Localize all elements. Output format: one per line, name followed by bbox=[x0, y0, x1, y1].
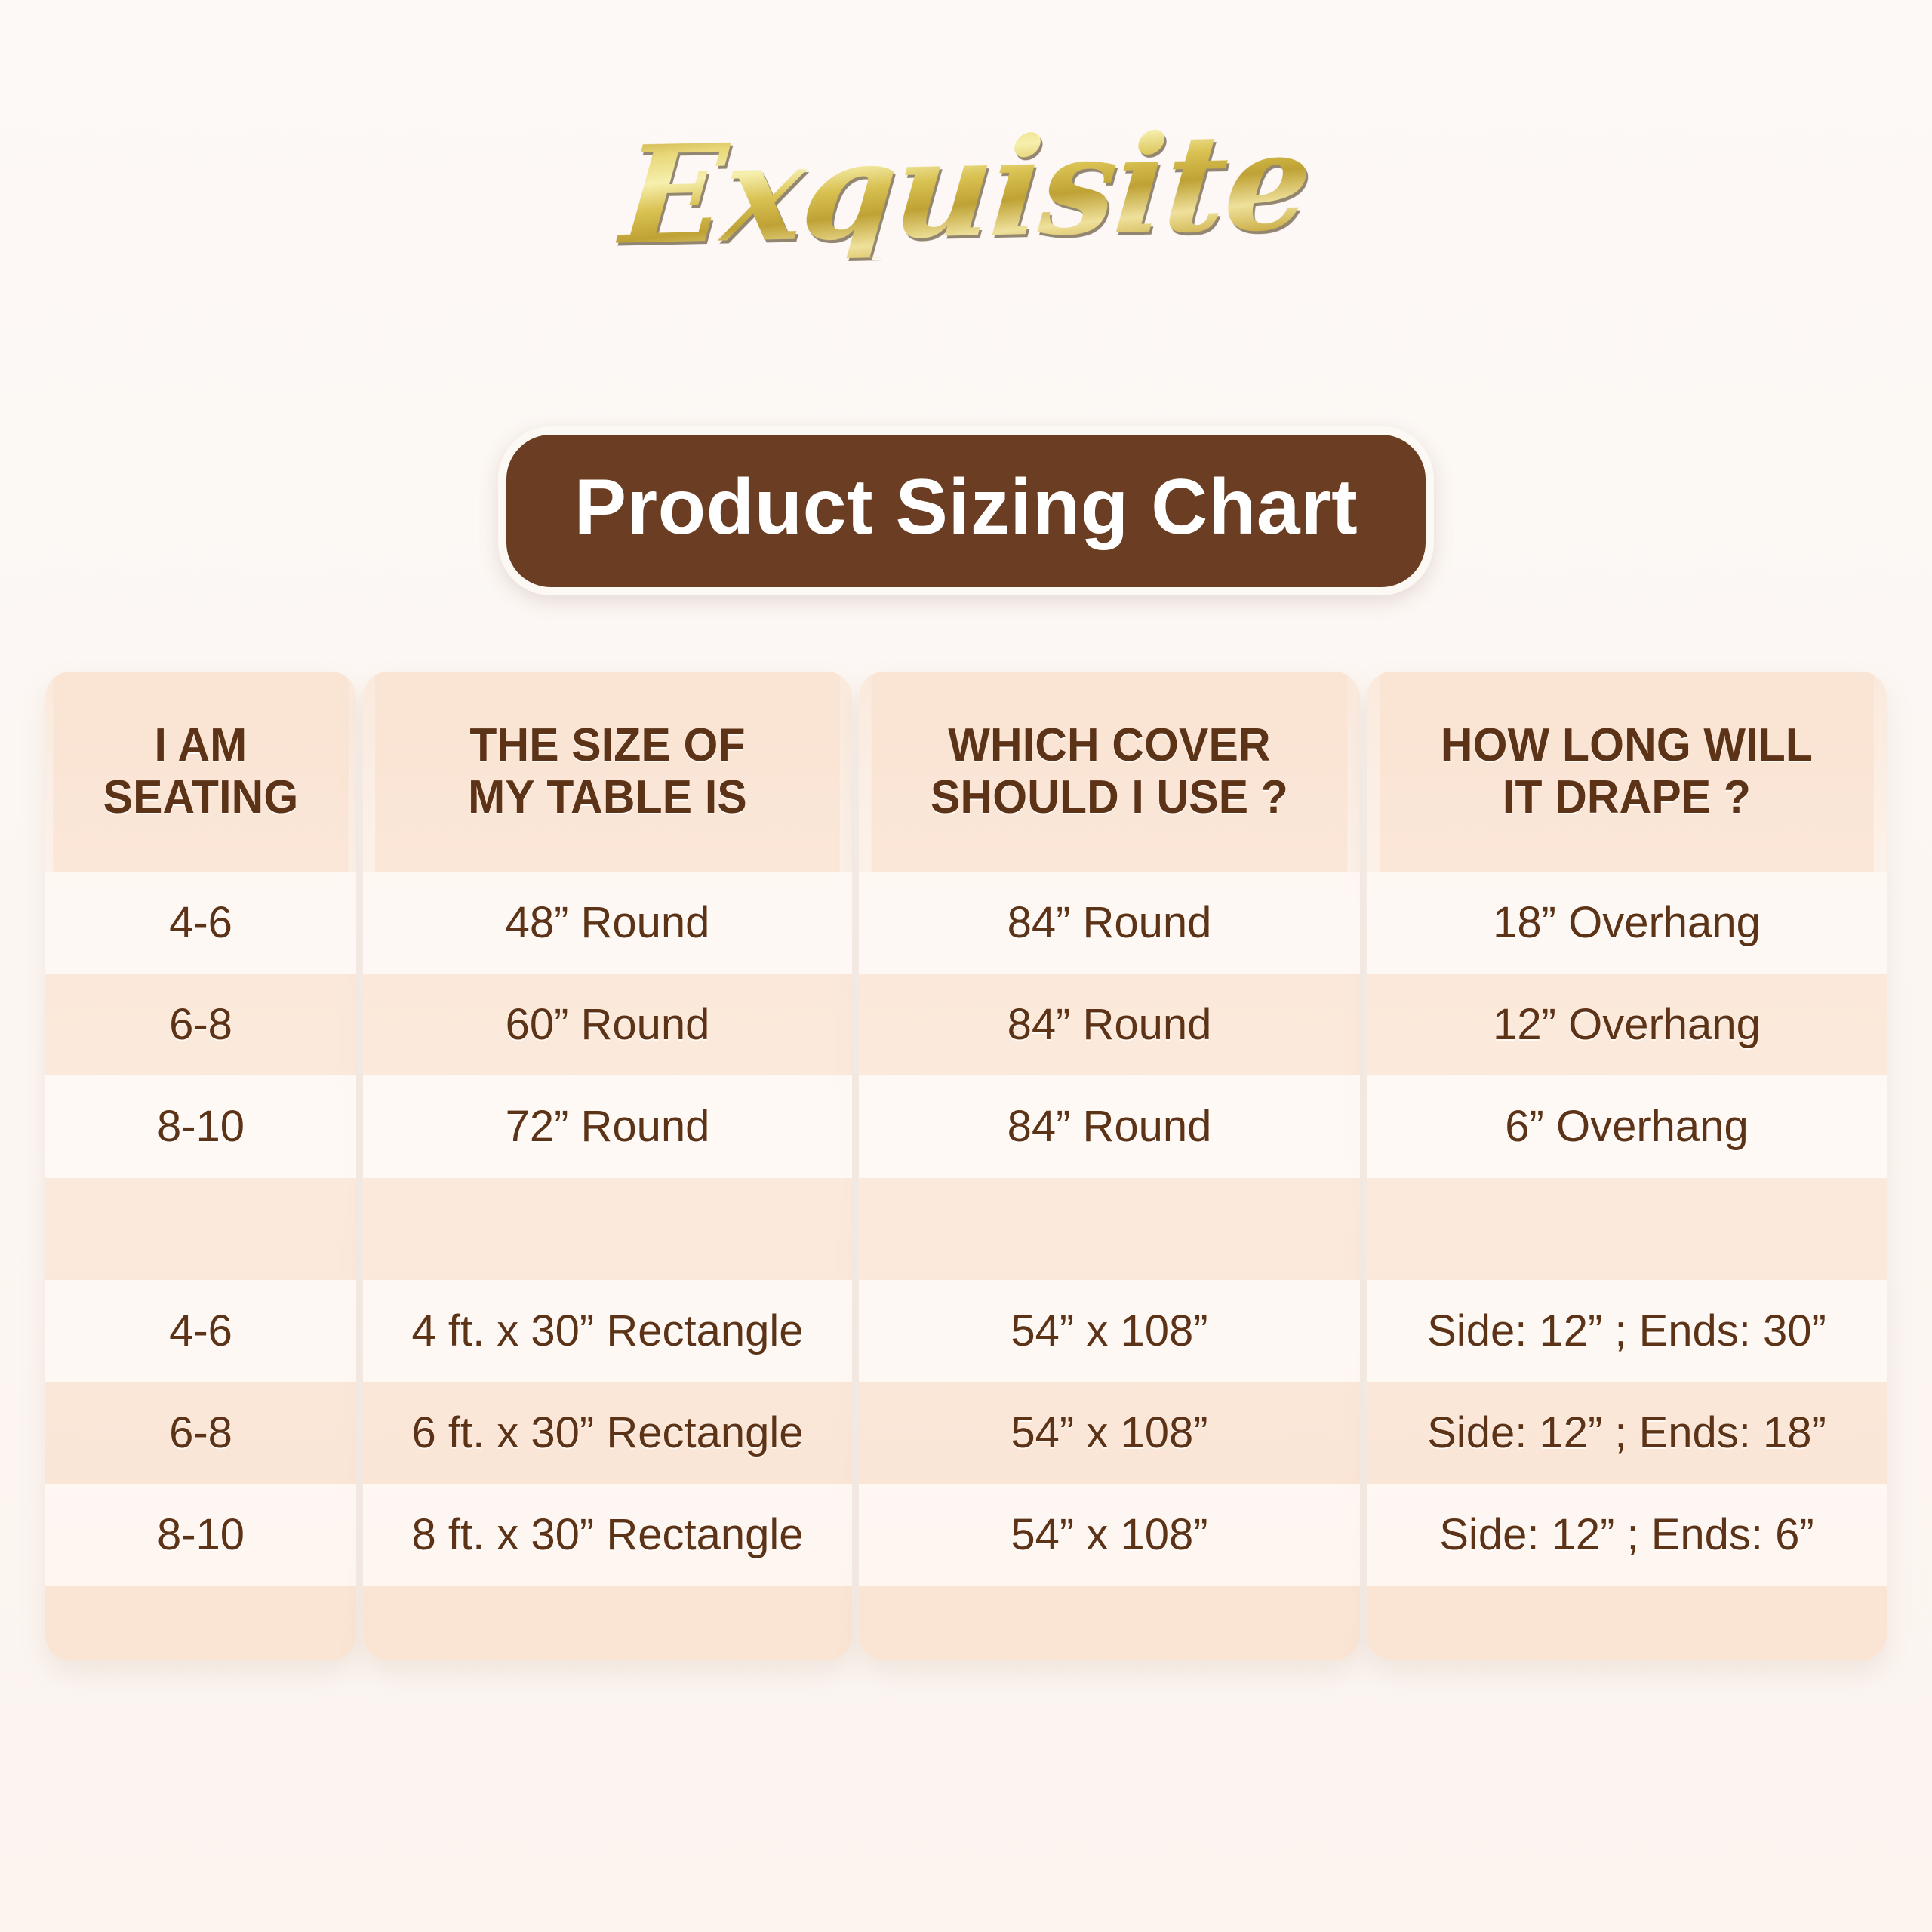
table-cell-cover: 84” Round bbox=[859, 1075, 1360, 1177]
page-title: Product Sizing Chart bbox=[498, 426, 1434, 595]
sizing-chart-page: Exquisite Product Sizing Chart I AM SEAT… bbox=[0, 0, 1932, 1932]
table-cell-cover: 84” Round bbox=[859, 974, 1360, 1075]
column-header-line2: SEATING bbox=[103, 771, 299, 823]
column-header-drape: HOW LONG WILL IT DRAPE ? bbox=[1380, 672, 1874, 872]
table-cell-seating: 6-8 bbox=[45, 1382, 356, 1484]
table-cell-cover: 54” x 108” bbox=[859, 1280, 1360, 1382]
column-card-drape: HOW LONG WILL IT DRAPE ? 18” Overhang 12… bbox=[1367, 672, 1887, 1660]
table-cell-drape: Side: 12” ; Ends: 6” bbox=[1367, 1484, 1887, 1586]
table-cell-seating: 8-10 bbox=[45, 1484, 356, 1586]
table-cell-seating: 4-6 bbox=[45, 872, 356, 974]
table-cell-cover: 54” x 108” bbox=[859, 1484, 1360, 1586]
table-bottom-pad bbox=[859, 1586, 1360, 1660]
column-card-cover: WHICH COVER SHOULD I USE ? 84” Round 84”… bbox=[859, 672, 1360, 1660]
column-header-seating: I AM SEATING bbox=[53, 672, 348, 872]
table-cell-cover: 84” Round bbox=[859, 872, 1360, 974]
column-header-cover: WHICH COVER SHOULD I USE ? bbox=[872, 672, 1348, 872]
column-card-seating: I AM SEATING 4-6 6-8 8-10 4-6 6-8 8-10 bbox=[45, 672, 356, 1660]
column-header-line1: THE SIZE OF bbox=[468, 719, 747, 771]
table-cell-table-size: 60” Round bbox=[363, 974, 852, 1075]
table-cell-table-size: 72” Round bbox=[363, 1075, 852, 1177]
column-header-line2: MY TABLE IS bbox=[468, 771, 747, 823]
table-bottom-pad bbox=[1367, 1586, 1887, 1660]
table-bottom-pad bbox=[363, 1586, 852, 1660]
table-spacer-row bbox=[1367, 1178, 1887, 1280]
column-header-table-size: THE SIZE OF MY TABLE IS bbox=[375, 672, 840, 872]
table-cell-drape: 18” Overhang bbox=[1367, 872, 1887, 974]
column-header-line1: HOW LONG WILL bbox=[1441, 719, 1813, 771]
column-header-line1: I AM bbox=[103, 719, 299, 771]
table-cell-seating: 6-8 bbox=[45, 974, 356, 1075]
table-spacer-row bbox=[363, 1178, 852, 1280]
table-cell-table-size: 6 ft. x 30” Rectangle bbox=[363, 1382, 852, 1484]
column-header-line2: SHOULD I USE ? bbox=[931, 771, 1288, 823]
brand-name: Exquisite bbox=[609, 114, 1322, 263]
column-header-line2: IT DRAPE ? bbox=[1441, 771, 1813, 823]
table-cell-drape: Side: 12” ; Ends: 30” bbox=[1367, 1280, 1887, 1382]
brand-logo: Exquisite bbox=[0, 91, 1932, 287]
table-spacer-row bbox=[859, 1178, 1360, 1280]
table-cell-seating: 8-10 bbox=[45, 1075, 356, 1177]
table-bottom-pad bbox=[45, 1586, 356, 1660]
table-cell-seating: 4-6 bbox=[45, 1280, 356, 1382]
table-spacer-row bbox=[45, 1178, 356, 1280]
column-card-table-size: THE SIZE OF MY TABLE IS 48” Round 60” Ro… bbox=[363, 672, 852, 1660]
table-cell-drape: 12” Overhang bbox=[1367, 974, 1887, 1075]
table-cell-cover: 54” x 108” bbox=[859, 1382, 1360, 1484]
table-cell-table-size: 8 ft. x 30” Rectangle bbox=[363, 1484, 852, 1586]
sizing-table: I AM SEATING 4-6 6-8 8-10 4-6 6-8 8-10 T… bbox=[45, 672, 1887, 1660]
table-cell-drape: 6” Overhang bbox=[1367, 1075, 1887, 1177]
table-cell-table-size: 4 ft. x 30” Rectangle bbox=[363, 1280, 852, 1382]
column-header-line1: WHICH COVER bbox=[931, 719, 1288, 771]
page-title-container: Product Sizing Chart bbox=[0, 426, 1932, 595]
table-cell-drape: Side: 12” ; Ends: 18” bbox=[1367, 1382, 1887, 1484]
table-cell-table-size: 48” Round bbox=[363, 872, 852, 974]
